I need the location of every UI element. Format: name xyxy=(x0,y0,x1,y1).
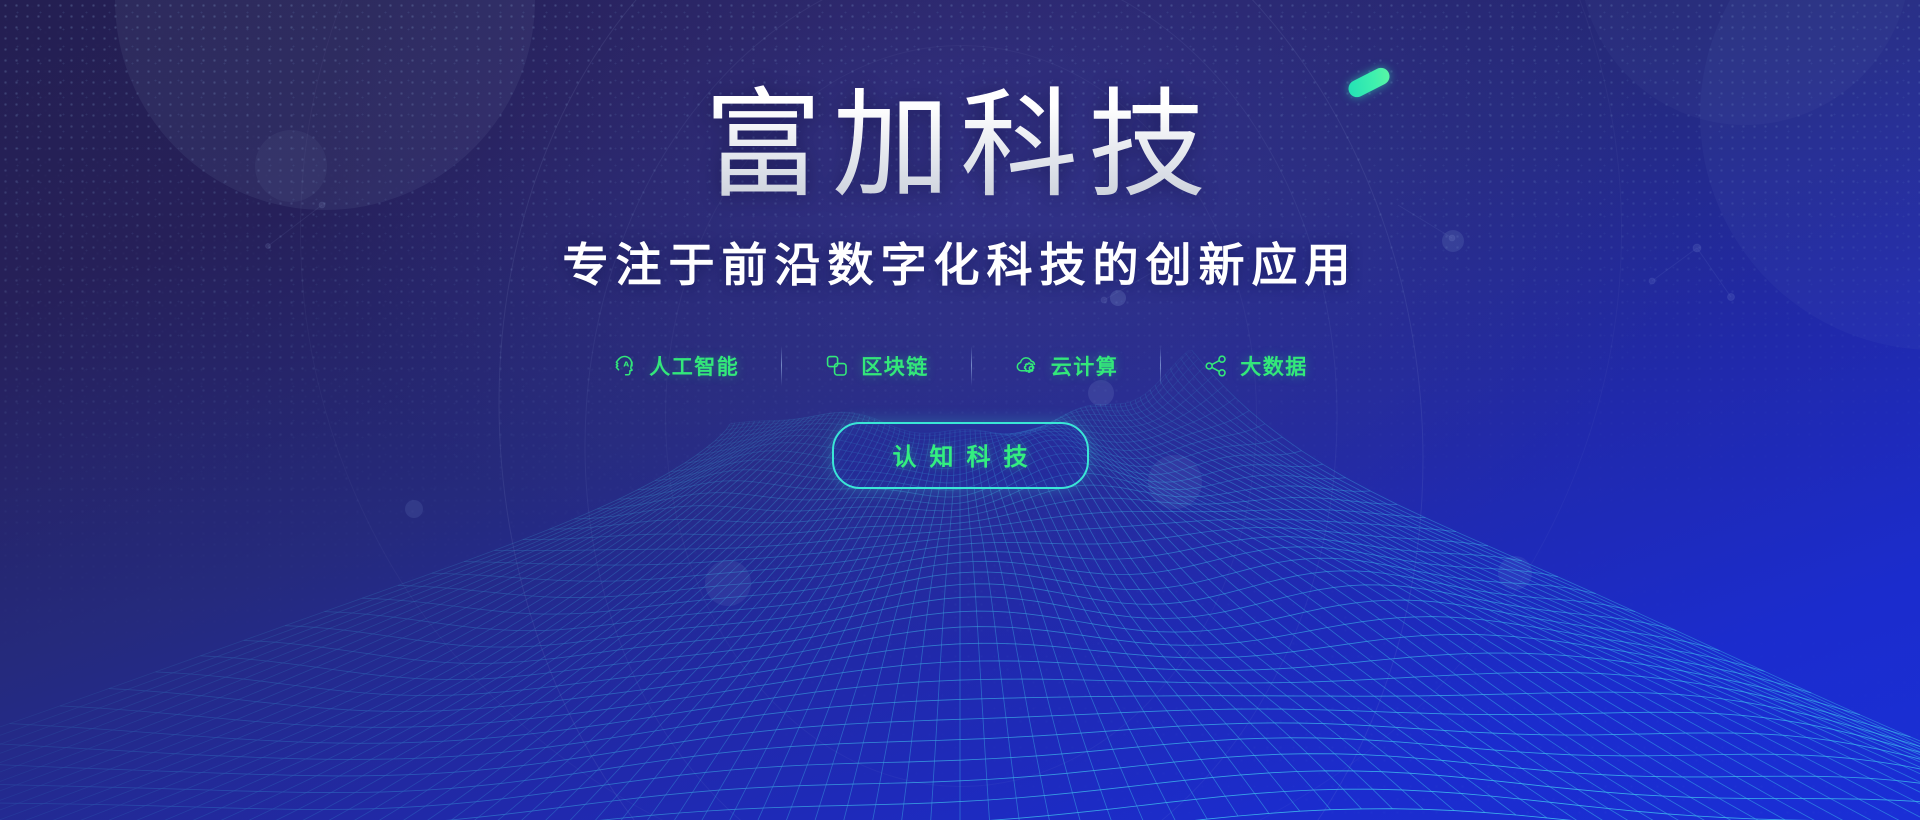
cognitive-tech-badge[interactable]: 认知科技 xyxy=(832,422,1089,489)
feature-tag-label: 人工智能 xyxy=(649,351,739,381)
title-accent-stroke xyxy=(1346,65,1393,100)
decor-circle-11 xyxy=(405,500,423,518)
share-nodes-icon xyxy=(1203,353,1229,379)
feature-tag-blockchain[interactable]: 区块链 xyxy=(782,351,971,381)
badge-row: 认知科技 xyxy=(0,422,1920,489)
ai-head-icon: AI xyxy=(612,353,638,379)
feature-tag-cloud[interactable]: 云计算 xyxy=(972,351,1161,381)
hero-subtitle: 专注于前沿数字化科技的创新应用 xyxy=(0,242,1920,288)
hero-banner: 富加科技 专注于前沿数字化科技的创新应用 AI 人工智能 xyxy=(0,0,1920,820)
cloud-gear-icon xyxy=(1014,353,1040,379)
hero-content: 富加科技 专注于前沿数字化科技的创新应用 AI 人工智能 xyxy=(0,0,1920,489)
feature-tag-list: AI 人工智能 区块链 xyxy=(0,346,1920,386)
decor-circle-7 xyxy=(705,560,751,606)
blockchain-blocks-icon xyxy=(824,353,850,379)
feature-tag-label: 大数据 xyxy=(1240,351,1308,381)
brand-logo: 富加科技 xyxy=(704,0,1216,204)
svg-text:AI: AI xyxy=(624,360,635,369)
feature-tag-bigdata[interactable]: 大数据 xyxy=(1161,351,1350,381)
page-title: 富加科技 xyxy=(704,0,1216,204)
decor-circle-10 xyxy=(1498,556,1532,590)
feature-tag-label: 区块链 xyxy=(861,351,929,381)
feature-tag-label: 云计算 xyxy=(1051,351,1119,381)
feature-tag-ai[interactable]: AI 人工智能 xyxy=(570,351,781,381)
